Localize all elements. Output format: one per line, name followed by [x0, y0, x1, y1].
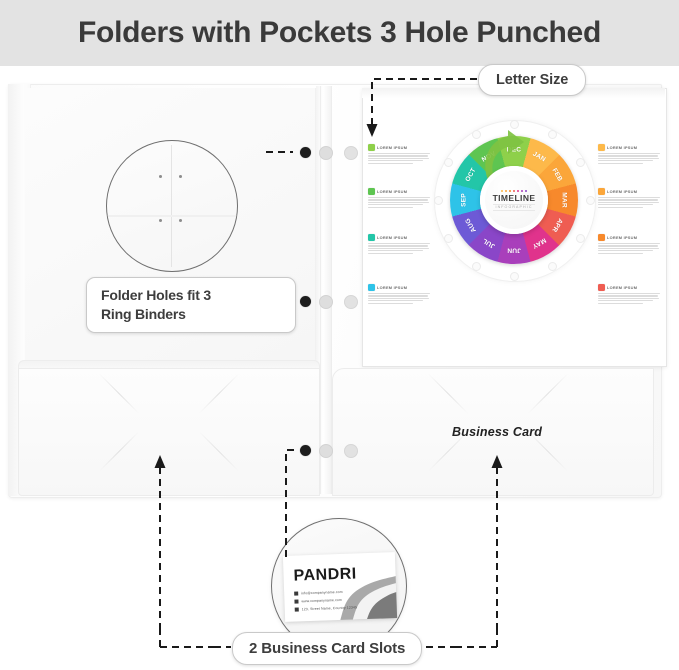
punch-hole-mid-mid — [319, 295, 333, 309]
ring-node — [434, 196, 443, 205]
infographic-label-block: LOREM IPSUM — [598, 144, 660, 164]
infographic-label-block: LOREM IPSUM — [598, 284, 660, 304]
ring-node — [576, 158, 585, 167]
hub-dots — [501, 190, 527, 192]
label-title: LOREM IPSUM — [377, 189, 407, 194]
card-contact-list: info@companyname.comwww.companyname.com1… — [283, 552, 395, 556]
hub-dot — [525, 190, 527, 192]
hub-title: TIMELINE — [493, 194, 536, 203]
callout-folder-holes-line2: Ring Binders — [101, 306, 186, 322]
hub-dot — [501, 190, 503, 192]
ring-node — [510, 120, 519, 129]
magnified-hole-dot — [159, 219, 162, 222]
label-title: LOREM IPSUM — [607, 285, 637, 290]
magnifier-holes-crease — [171, 145, 172, 267]
label-title: LOREM IPSUM — [607, 145, 637, 150]
ring-node — [444, 234, 453, 243]
label-icon — [598, 284, 605, 291]
hub-subtitle: INFOGRAPHIC — [493, 204, 534, 211]
punch-hole-bottom-right — [344, 444, 358, 458]
timeline-infographic: LOREM IPSUMLOREM IPSUMLOREM IPSUMLOREM I… — [362, 88, 665, 365]
label-title: LOREM IPSUM — [607, 235, 637, 240]
ring-node — [472, 130, 481, 139]
infographic-label-block: LOREM IPSUM — [368, 144, 430, 164]
ring-node — [548, 130, 557, 139]
callout-folder-holes-text: Folder Holes fit 3 Ring Binders — [101, 286, 211, 324]
label-icon — [598, 144, 605, 151]
punch-hole-top-mid — [319, 146, 333, 160]
hub-dot — [509, 190, 511, 192]
callout-business-card-slots[interactable]: 2 Business Card Slots — [232, 632, 422, 665]
timeline-wheel: JANFEBMARAPRMAYJUNJULAUGSEPOCTNOVDEC TIM… — [450, 136, 578, 264]
label-title: LOREM IPSUM — [377, 145, 407, 150]
ring-node — [548, 262, 557, 271]
infographic-label-block: LOREM IPSUM — [368, 188, 430, 208]
callout-folder-holes-line1: Folder Holes fit 3 — [101, 287, 211, 303]
label-body-lines — [368, 293, 430, 304]
hub-dot — [513, 190, 515, 192]
label-title: LOREM IPSUM — [377, 285, 407, 290]
ring-node — [510, 272, 519, 281]
card-slot-slit — [428, 373, 468, 413]
header-banner: Folders with Pockets 3 Hole Punched — [0, 0, 679, 66]
card-slot-slit — [199, 373, 239, 413]
label-icon — [368, 284, 375, 291]
card-contact-icon — [294, 599, 298, 603]
infographic-label-block: LOREM IPSUM — [368, 234, 430, 254]
callout-folder-holes[interactable]: Folder Holes fit 3 Ring Binders — [86, 277, 296, 333]
label-body-lines — [598, 293, 660, 304]
card-contact-icon — [294, 591, 298, 595]
label-icon — [368, 234, 375, 241]
infographic-label-block: LOREM IPSUM — [368, 284, 430, 304]
punch-hole-mid-dark — [300, 296, 311, 307]
punch-hole-top-dark — [300, 147, 311, 158]
pocket-left — [18, 368, 320, 496]
business-card-slot-left — [19, 369, 319, 495]
business-card-label: Business Card — [452, 425, 542, 439]
ring-node — [576, 234, 585, 243]
hub-dot — [505, 190, 507, 192]
label-body-lines — [368, 243, 430, 254]
hub-dot — [517, 190, 519, 192]
card-slot-slit — [99, 373, 139, 413]
label-icon — [598, 234, 605, 241]
card-slot-slit — [99, 431, 139, 471]
callout-letter-size[interactable]: Letter Size — [478, 64, 586, 96]
ring-node — [586, 196, 595, 205]
punch-hole-mid-right — [344, 295, 358, 309]
label-icon — [368, 144, 375, 151]
magnified-hole-dot — [179, 219, 182, 222]
label-body-lines — [598, 153, 660, 164]
card-slot-slit — [199, 431, 239, 471]
infographic-label-block: LOREM IPSUM — [598, 188, 660, 208]
page-title: Folders with Pockets 3 Hole Punched — [78, 16, 601, 50]
product-infographic: Folders with Pockets 3 Hole Punched LORE… — [0, 0, 679, 670]
label-body-lines — [368, 153, 430, 164]
hub-dot — [521, 190, 523, 192]
ring-node — [444, 158, 453, 167]
magnifier-holes — [106, 140, 238, 272]
business-card: PANDRI info@companyname.comwww.companyna… — [283, 552, 397, 622]
infographic-label-block: LOREM IPSUM — [598, 234, 660, 254]
magnified-hole-dot — [159, 175, 162, 178]
punch-hole-bottom-mid — [319, 444, 333, 458]
label-body-lines — [598, 243, 660, 254]
label-body-lines — [598, 197, 660, 208]
ring-node — [472, 262, 481, 271]
punch-hole-top-right — [344, 146, 358, 160]
punch-hole-bottom-dark — [300, 445, 311, 456]
label-icon — [368, 188, 375, 195]
label-title: LOREM IPSUM — [607, 189, 637, 194]
card-slot-slit — [528, 373, 568, 413]
magnifier-holes-band — [107, 215, 237, 217]
label-body-lines — [368, 197, 430, 208]
card-contact-icon — [295, 607, 299, 611]
card-logo: PANDRI — [293, 565, 357, 585]
wheel-hub: TIMELINE INFOGRAPHIC — [480, 166, 548, 234]
label-title: LOREM IPSUM — [377, 235, 407, 240]
magnified-hole-dot — [179, 175, 182, 178]
label-icon — [598, 188, 605, 195]
